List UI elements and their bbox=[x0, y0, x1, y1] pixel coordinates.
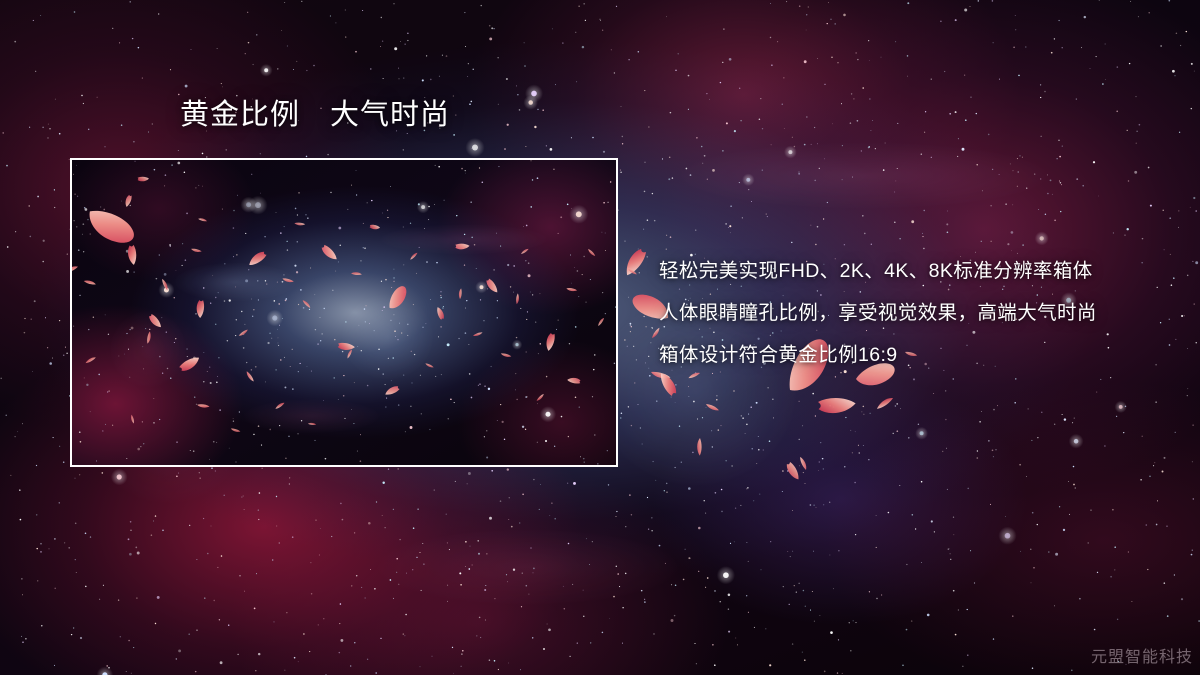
body-line-3: 箱体设计符合黄金比例16:9 bbox=[659, 342, 1097, 384]
framed-image-panel[interactable] bbox=[70, 158, 618, 467]
panel-nebula-wisps bbox=[72, 160, 616, 465]
panel-image bbox=[72, 160, 616, 465]
body-line-1: 轻松完美实现FHD、2K、4K、8K标准分辨率箱体 bbox=[659, 258, 1097, 300]
body-text-block: 轻松完美实现FHD、2K、4K、8K标准分辨率箱体 人体眼睛瞳孔比例，享受视觉效… bbox=[659, 258, 1097, 384]
body-line-2: 人体眼睛瞳孔比例，享受视觉效果，高端大气时尚 bbox=[659, 300, 1097, 342]
slide-canvas: 黄金比例 大气时尚 轻松完美实现FHD、2K、4K、8K标准分辨率箱体 人体眼睛… bbox=[0, 0, 1200, 675]
watermark-label: 元盟智能科技 bbox=[1091, 643, 1193, 667]
page-title: 黄金比例 大气时尚 bbox=[180, 101, 450, 130]
